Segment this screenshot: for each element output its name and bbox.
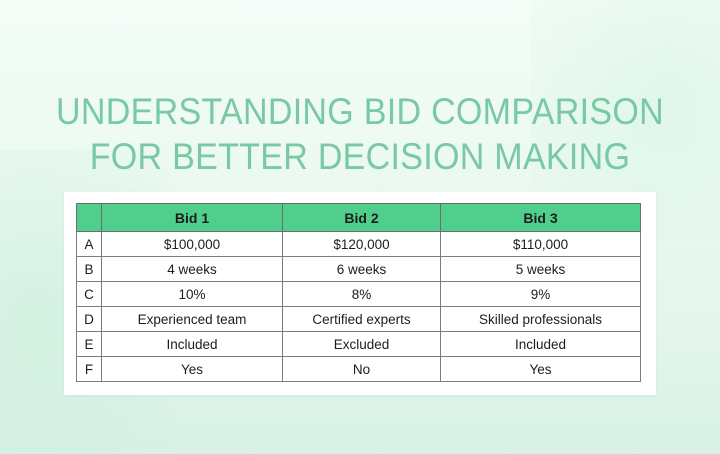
table-row: F Yes No Yes bbox=[77, 357, 641, 382]
row-letter: D bbox=[77, 307, 102, 332]
cell-bid2: $120,000 bbox=[283, 232, 441, 257]
cell-bid3: Yes bbox=[441, 357, 641, 382]
cell-bid3: Skilled professionals bbox=[441, 307, 641, 332]
cell-bid1: $100,000 bbox=[102, 232, 283, 257]
column-header-bid-1: Bid 1 bbox=[102, 204, 283, 232]
table-header: Bid 1 Bid 2 Bid 3 bbox=[77, 204, 641, 232]
cell-bid3: 5 weeks bbox=[441, 257, 641, 282]
bid-comparison-table-container: Bid 1 Bid 2 Bid 3 A $100,000 $120,000 $1… bbox=[76, 203, 641, 382]
page-title-line-1: UNDERSTANDING BID COMPARISON bbox=[29, 89, 691, 134]
bid-comparison-table: Bid 1 Bid 2 Bid 3 A $100,000 $120,000 $1… bbox=[76, 203, 641, 382]
cell-bid2: 6 weeks bbox=[283, 257, 441, 282]
cell-bid3: $110,000 bbox=[441, 232, 641, 257]
column-header-bid-2: Bid 2 bbox=[283, 204, 441, 232]
cell-bid2: 8% bbox=[283, 282, 441, 307]
cell-bid1: Included bbox=[102, 332, 283, 357]
cell-bid2: Excluded bbox=[283, 332, 441, 357]
page-title: UNDERSTANDING BID COMPARISON FOR BETTER … bbox=[29, 89, 691, 179]
table-row: D Experienced team Certified experts Ski… bbox=[77, 307, 641, 332]
table-row: C 10% 8% 9% bbox=[77, 282, 641, 307]
cell-bid3: Included bbox=[441, 332, 641, 357]
cell-bid2: Certified experts bbox=[283, 307, 441, 332]
cell-bid1: Yes bbox=[102, 357, 283, 382]
row-letter: E bbox=[77, 332, 102, 357]
cell-bid2: No bbox=[283, 357, 441, 382]
table-row: A $100,000 $120,000 $110,000 bbox=[77, 232, 641, 257]
column-header-row-letter bbox=[77, 204, 102, 232]
cell-bid1: 4 weeks bbox=[102, 257, 283, 282]
table-row: B 4 weeks 6 weeks 5 weeks bbox=[77, 257, 641, 282]
column-header-bid-3: Bid 3 bbox=[441, 204, 641, 232]
page-title-line-2: FOR BETTER DECISION MAKING bbox=[29, 134, 691, 179]
cell-bid3: 9% bbox=[441, 282, 641, 307]
cell-bid1: 10% bbox=[102, 282, 283, 307]
table-body: A $100,000 $120,000 $110,000 B 4 weeks 6… bbox=[77, 232, 641, 382]
row-letter: C bbox=[77, 282, 102, 307]
row-letter: F bbox=[77, 357, 102, 382]
table-row: E Included Excluded Included bbox=[77, 332, 641, 357]
slide-canvas: UNDERSTANDING BID COMPARISON FOR BETTER … bbox=[0, 0, 720, 454]
row-letter: B bbox=[77, 257, 102, 282]
table-header-row: Bid 1 Bid 2 Bid 3 bbox=[77, 204, 641, 232]
row-letter: A bbox=[77, 232, 102, 257]
cell-bid1: Experienced team bbox=[102, 307, 283, 332]
